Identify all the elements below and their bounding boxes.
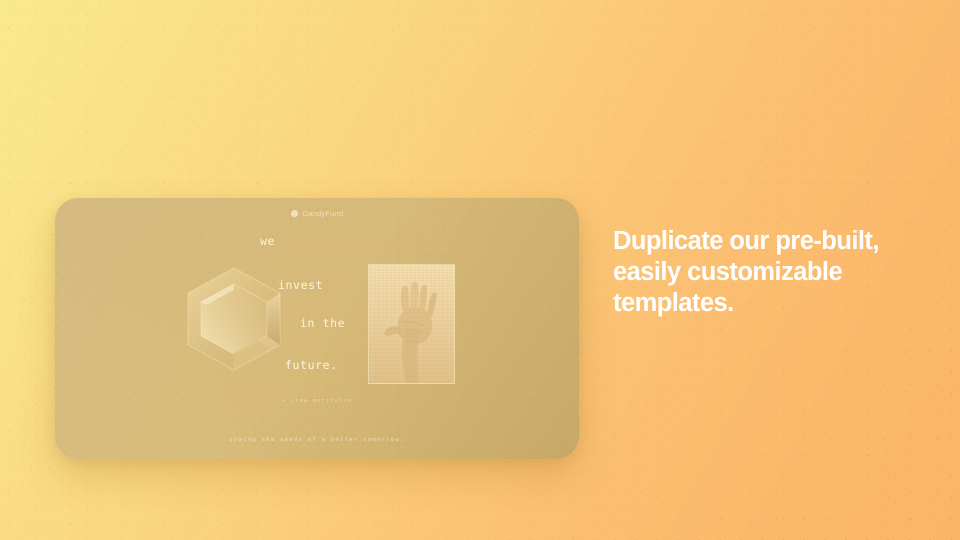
template-preview-card[interactable]: DandyFund	[55, 198, 579, 459]
page-title-line-3: templates.	[613, 288, 933, 319]
card-headline-line-3: in the	[300, 318, 465, 330]
card-brand-header: DandyFund	[55, 209, 579, 218]
page-title: Duplicate our pre-built, easily customiz…	[613, 226, 933, 319]
page-title-line-1: Duplicate our pre-built,	[613, 226, 933, 257]
circle-logo-icon	[291, 210, 298, 217]
card-headline-line-1: we	[260, 236, 465, 248]
slide-canvas: DandyFund	[0, 0, 960, 540]
card-brand-name: DandyFund	[303, 209, 344, 218]
card-headline-line-2: invest	[278, 280, 465, 292]
card-headline-line-4: future.	[285, 360, 465, 372]
view-portfolio-link[interactable]: + view portfolio	[55, 398, 579, 404]
card-footer-tagline: sowing the seeds of a better tomorrow.	[55, 437, 579, 443]
card-headline: we invest in the future.	[260, 236, 465, 371]
page-title-line-2: easily customizable	[613, 257, 933, 288]
